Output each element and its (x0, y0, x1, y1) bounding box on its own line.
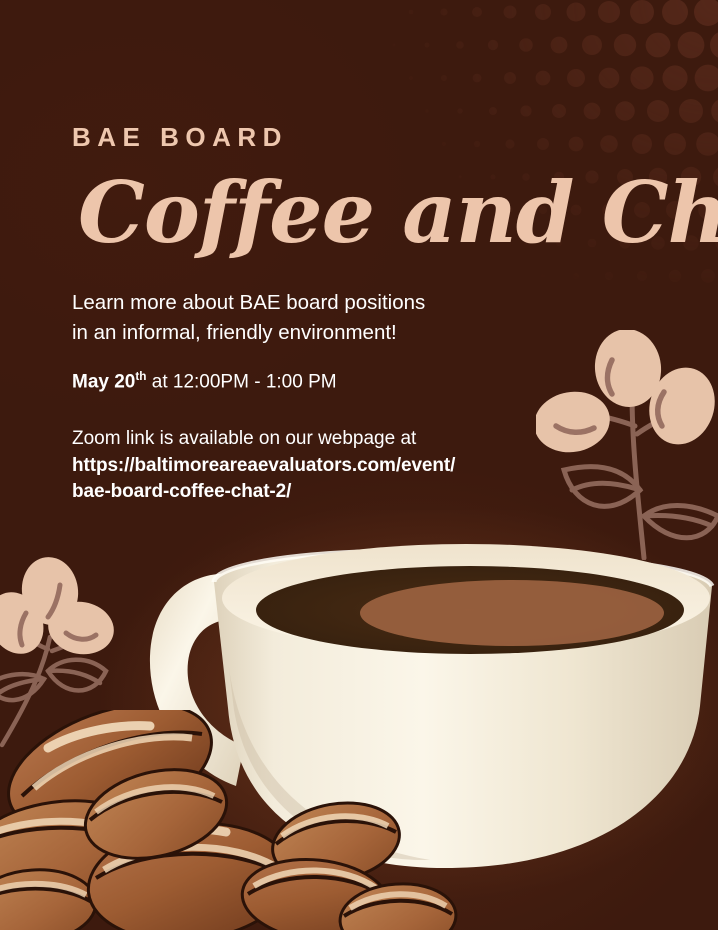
zoom-link-block: Zoom link is available on our webpage at… (72, 425, 672, 505)
poster-description: Learn more about BAE board positions in … (72, 288, 672, 347)
event-url-line-2[interactable]: bae-board-coffee-chat-2/ (72, 479, 672, 505)
event-url-line-1[interactable]: https://baltimoreareaevaluators.com/even… (72, 453, 672, 479)
event-date: May 20 (72, 372, 135, 393)
poster-kicker: BAE BOARD (72, 124, 672, 150)
page-title: Coffee and Chat (78, 172, 678, 254)
poster-canvas: BAE BOARD Coffee and Chat Learn more abo… (0, 0, 718, 930)
poster-content: BAE BOARD Coffee and Chat Learn more abo… (72, 0, 672, 505)
description-line-1: Learn more about BAE board positions (72, 288, 672, 318)
event-datetime: May 20th at 12:00PM - 1:00 PM (72, 369, 672, 395)
coffee-beans-illustration (0, 710, 718, 930)
description-line-2: in an informal, friendly environment! (72, 318, 672, 348)
date-ordinal-suffix: th (135, 370, 146, 383)
event-time: at 12:00PM - 1:00 PM (146, 372, 336, 393)
zoom-link-intro: Zoom link is available on our webpage at (72, 428, 416, 449)
